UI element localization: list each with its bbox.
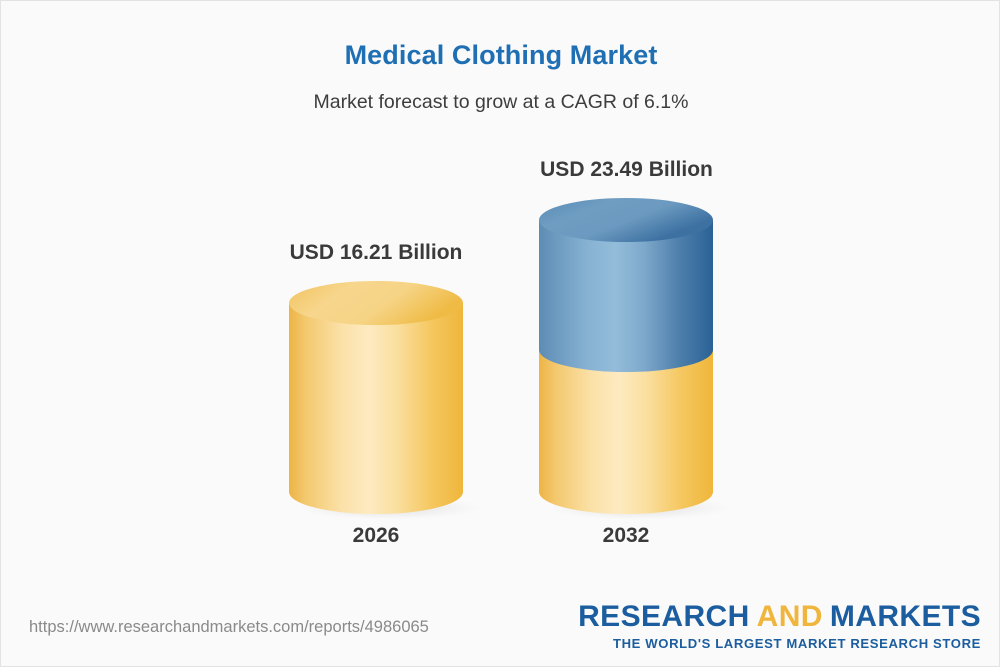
cylinder-bar-2026[interactable] <box>289 280 479 520</box>
bar-category-label-2032: 2032 <box>526 524 726 548</box>
cylinder-bar-2032[interactable] <box>539 197 729 519</box>
brand-word-and: AND <box>750 600 830 633</box>
brand-logo[interactable]: RESEARCHANDMARKETS THE WORLD'S LARGEST M… <box>578 602 981 650</box>
brand-wordmark: RESEARCHANDMARKETS <box>578 602 981 632</box>
bar-value-label-2032: USD 23.49 Billion <box>494 158 759 182</box>
brand-word-research: RESEARCH <box>578 600 750 633</box>
brand-word-markets: MARKETS <box>830 600 981 633</box>
bar-group-2026: USD 16.21 Billion <box>289 241 463 551</box>
brand-tagline: THE WORLD'S LARGEST MARKET RESEARCH STOR… <box>578 637 981 650</box>
plot-area: USD 16.21 Billion <box>1 1 1000 601</box>
source-url-link[interactable]: https://www.researchandmarkets.com/repor… <box>29 618 429 637</box>
bar-value-label-2026: USD 16.21 Billion <box>244 241 508 265</box>
bar-group-2032: USD 23.49 Billion <box>539 158 714 551</box>
footer: https://www.researchandmarkets.com/repor… <box>1 596 1000 666</box>
bar-category-label-2026: 2026 <box>276 524 476 548</box>
chart-canvas: Medical Clothing Market Market forecast … <box>0 0 1000 667</box>
